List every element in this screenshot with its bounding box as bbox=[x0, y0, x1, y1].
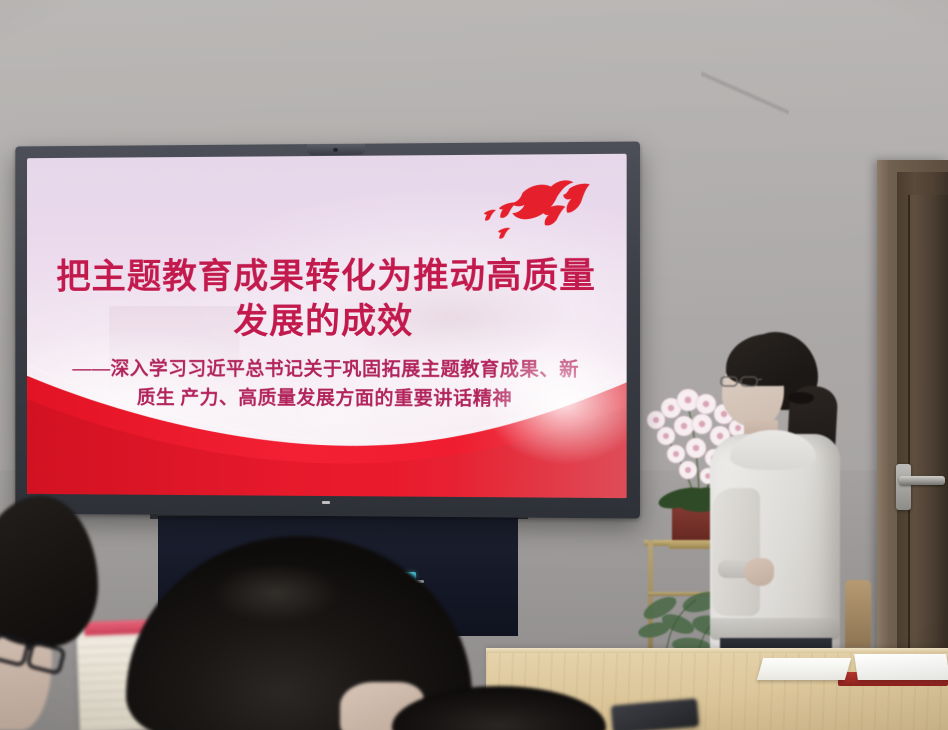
power-indicator bbox=[322, 501, 330, 504]
wall-crack bbox=[695, 15, 795, 171]
presenter-hair-tie bbox=[788, 392, 814, 404]
flying-doves-icon bbox=[476, 172, 613, 251]
open-notebook[interactable] bbox=[760, 652, 948, 692]
eyeglasses-icon bbox=[0, 634, 66, 680]
notebook-right-page bbox=[854, 654, 948, 680]
slide-title-line2: 发展的成效 bbox=[27, 299, 627, 344]
interactive-flat-panel[interactable]: 把主题教育成果转化为推动高质量 发展的成效 ——深入学习习近平总书记关于巩固拓展… bbox=[15, 141, 640, 518]
attendee-center-hair-highlight bbox=[186, 558, 366, 628]
presenter-arm bbox=[712, 488, 760, 616]
eyeglasses-icon bbox=[720, 374, 762, 389]
slide-title-line1: 把主题教育成果转化为推动高质量 bbox=[56, 256, 596, 296]
presentation-slide: 把主题教育成果转化为推动高质量 发展的成效 ——深入学习习近平总书记关于巩固拓展… bbox=[27, 154, 627, 498]
meeting-room-photo: 把主题教育成果转化为推动高质量 发展的成效 ——深入学习习近平总书记关于巩固拓展… bbox=[0, 0, 948, 730]
standing-presenter bbox=[714, 330, 874, 660]
door-escutcheon bbox=[896, 464, 911, 510]
presenter-hoodie-hem bbox=[710, 618, 840, 640]
door-handle-icon[interactable] bbox=[899, 476, 945, 485]
slide-title: 把主题教育成果转化为推动高质量 发展的成效 bbox=[27, 254, 627, 345]
door-panel bbox=[908, 195, 948, 655]
attendee-left-hair bbox=[0, 496, 98, 646]
seated-attendee-with-glasses bbox=[0, 496, 112, 730]
notebook-left-page bbox=[757, 658, 851, 680]
camera-lens-icon bbox=[333, 148, 338, 152]
panel-screen[interactable]: 把主题教育成果转化为推动高质量 发展的成效 ——深入学习习近平总书记关于巩固拓展… bbox=[27, 154, 627, 498]
presenter-hand bbox=[744, 558, 774, 586]
slide-red-ribbon bbox=[27, 360, 627, 499]
